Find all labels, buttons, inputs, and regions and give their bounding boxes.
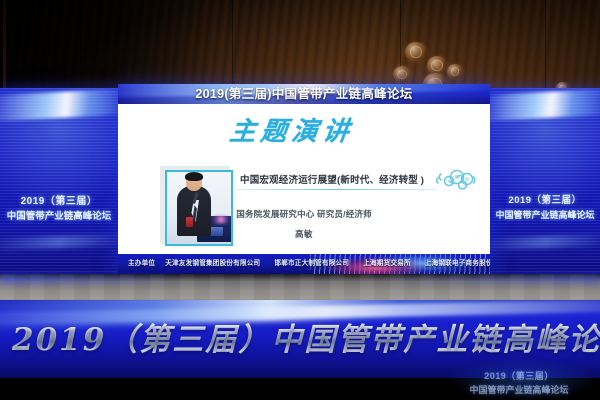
side-panel-right-year: 2019（第三届） xyxy=(490,192,600,206)
auspicious-cloud-icon xyxy=(434,166,478,192)
slide-subtitle: 中国宏观经济运行展望(新时代、经济转型 ) xyxy=(240,172,430,186)
conference-stage-photo: 2019（第三届） 中国管带产业链高峰论坛 2019（第三届） 中国管带产业链高… xyxy=(0,0,600,400)
sponsor-item-2: 上海期货交易所 xyxy=(363,260,411,267)
led-side-panel-left: 2019（第三届） 中国管带产业链高峰论坛 xyxy=(0,88,118,274)
slide-speaker-name: 高敏 xyxy=(118,228,490,240)
side-panel-left-year: 2019（第三届） xyxy=(0,192,118,207)
screen-header-bar: 2019(第三届)中国管带产业链高峰论坛 xyxy=(118,84,490,104)
watermark-glow xyxy=(430,354,600,400)
presentation-slide: 主题演讲 中国宏观经济运行展望(新时代、经济转型 ) xyxy=(118,104,490,254)
sponsor-item-1: 邯郸市正大制管有限公司 xyxy=(274,260,349,267)
sponsor-item-0: 天津友发钢管集团股份有限公司 xyxy=(165,260,260,267)
sponsor-item-3: 上海钢联电子商务股份有限公司 xyxy=(425,260,490,267)
rose-ornament-icon xyxy=(393,66,411,83)
sponsor-text-row: 主办单位 天津友发钢管集团股份有限公司 邯郸市正大制管有限公司 上海期货交易所 … xyxy=(118,254,490,274)
main-led-screen: 2019(第三届)中国管带产业链高峰论坛 主题演讲 中国宏观经济运行展望(新时代… xyxy=(118,84,490,274)
sponsor-label: 主办单位 xyxy=(128,260,155,267)
rose-ornament-icon xyxy=(427,56,447,75)
side-panel-right-title: 中国管带产业链高峰论坛 xyxy=(490,208,600,221)
rose-ornament-icon xyxy=(405,42,427,62)
rose-ornament-icon xyxy=(447,64,463,79)
floor-glow-right xyxy=(380,274,600,284)
banner-title: 2019（第三届）中国管带产业链高峰论坛 xyxy=(12,314,600,359)
slide-organization: 国务院发展研究中心 研究员/经济师 xyxy=(118,208,490,220)
screen-header-title: 2019(第三届)中国管带产业链高峰论坛 xyxy=(118,84,490,104)
floor-glow-left xyxy=(0,274,190,284)
side-panel-left-title: 中国管带产业链高峰论坛 xyxy=(0,208,118,222)
slide-subtitle-underline xyxy=(236,189,436,190)
led-side-panel-right: 2019（第三届） 中国管带产业链高峰论坛 xyxy=(490,88,600,274)
speaker-hair xyxy=(185,172,203,181)
screen-sponsor-bar: 主办单位 天津友发钢管集团股份有限公司 邯郸市正大制管有限公司 上海期货交易所 … xyxy=(118,254,490,274)
slide-title: 主题演讲 xyxy=(228,111,357,148)
